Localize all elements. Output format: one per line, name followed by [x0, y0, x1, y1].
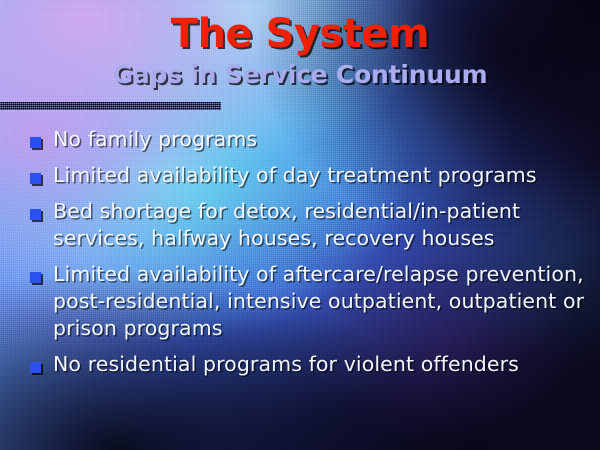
presentation-slide: The System Gaps in Service Continuum No …	[0, 0, 600, 450]
list-item: Limited availability of day treatment pr…	[0, 162, 600, 189]
square-bullet-icon	[30, 272, 41, 283]
square-bullet-icon	[30, 137, 41, 148]
list-item-label: No family programs	[53, 126, 598, 153]
square-bullet-icon	[30, 362, 41, 373]
square-bullet-icon	[30, 209, 41, 220]
list-item-label: Limited availability of day treatment pr…	[53, 162, 598, 189]
slide-title-block: The System Gaps in Service Continuum	[0, 14, 600, 87]
list-item: Bed shortage for detox, residential/in-p…	[0, 198, 600, 252]
list-item-label: Bed shortage for detox, residential/in-p…	[53, 198, 598, 252]
list-item-label: No residential programs for violent offe…	[53, 351, 598, 378]
list-item: No residential programs for violent offe…	[0, 351, 600, 378]
list-item: Limited availability of aftercare/relaps…	[0, 261, 600, 342]
square-bullet-icon	[30, 173, 41, 184]
list-item: No family programs	[0, 126, 600, 153]
slide-subtitle: Gaps in Service Continuum	[0, 62, 600, 87]
title-divider-rule	[0, 102, 221, 110]
slide-title: The System	[0, 14, 600, 54]
bullet-list: No family programs Limited availability …	[0, 126, 600, 387]
list-item-label: Limited availability of aftercare/relaps…	[53, 261, 598, 342]
